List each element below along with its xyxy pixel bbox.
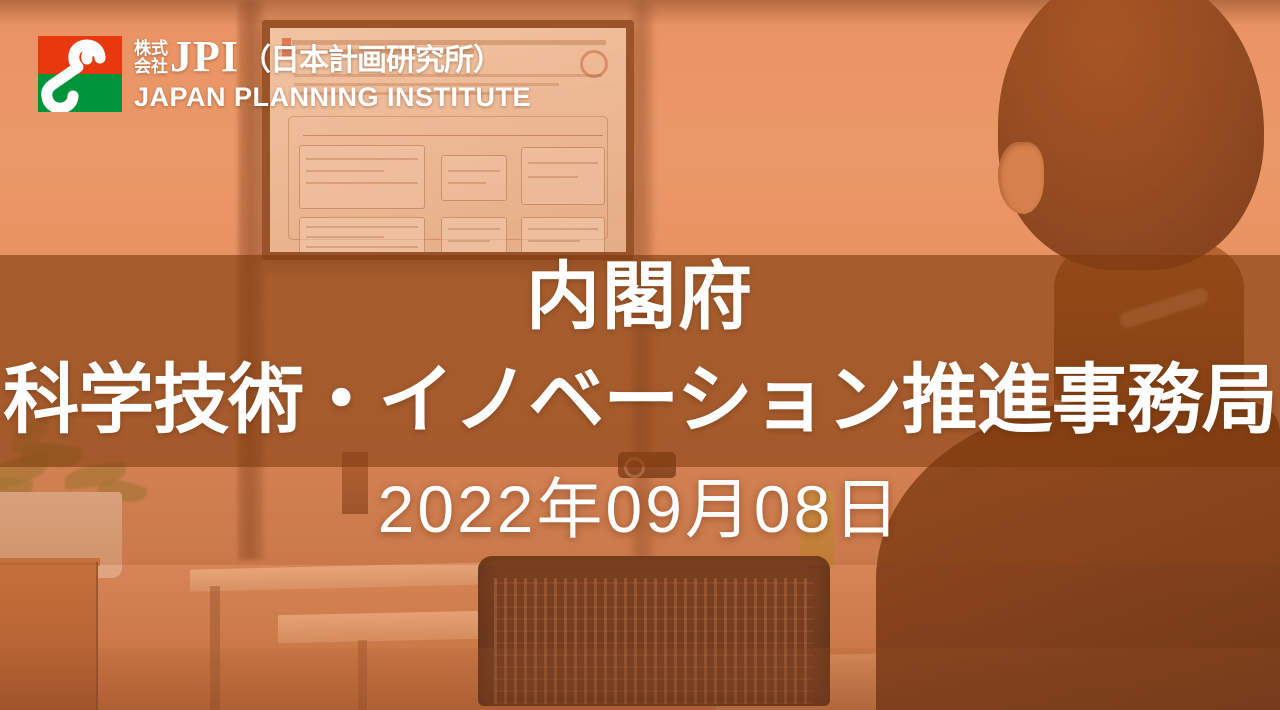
jpi-logo[interactable]: 株式 会社 JPI （日本計画研究所） JAPAN PLANNING INSTI… <box>38 36 531 112</box>
jpi-kabushiki: 株式 <box>134 39 168 58</box>
jpi-kaisha: 会社 <box>134 57 168 76</box>
logo-hook-glyph <box>38 36 122 112</box>
jpi-logo-row-top: 株式 会社 JPI （日本計画研究所） <box>134 37 531 77</box>
title-line-1: 内閣府 <box>0 258 1280 336</box>
title-line-2: 科学技術・イノベーション推進事務局 <box>0 360 1280 442</box>
jpi-japanese-name: （日本計画研究所） <box>241 46 502 78</box>
jpi-acronym: JPI <box>170 37 239 77</box>
jpi-logo-text: 株式 会社 JPI （日本計画研究所） JAPAN PLANNING INSTI… <box>134 37 531 110</box>
jpi-kabushiki-kaisha: 株式 会社 <box>134 40 168 77</box>
seminar-date: 2022年09月08日 <box>0 473 1280 546</box>
jpi-english-name: JAPAN PLANNING INSTITUTE <box>134 84 531 111</box>
title-slide: 内閣府 科学技術・イノベーション推進事務局 2022年09月08日 株式 会社 … <box>0 0 1280 710</box>
jpi-logo-mark-icon <box>38 36 122 112</box>
